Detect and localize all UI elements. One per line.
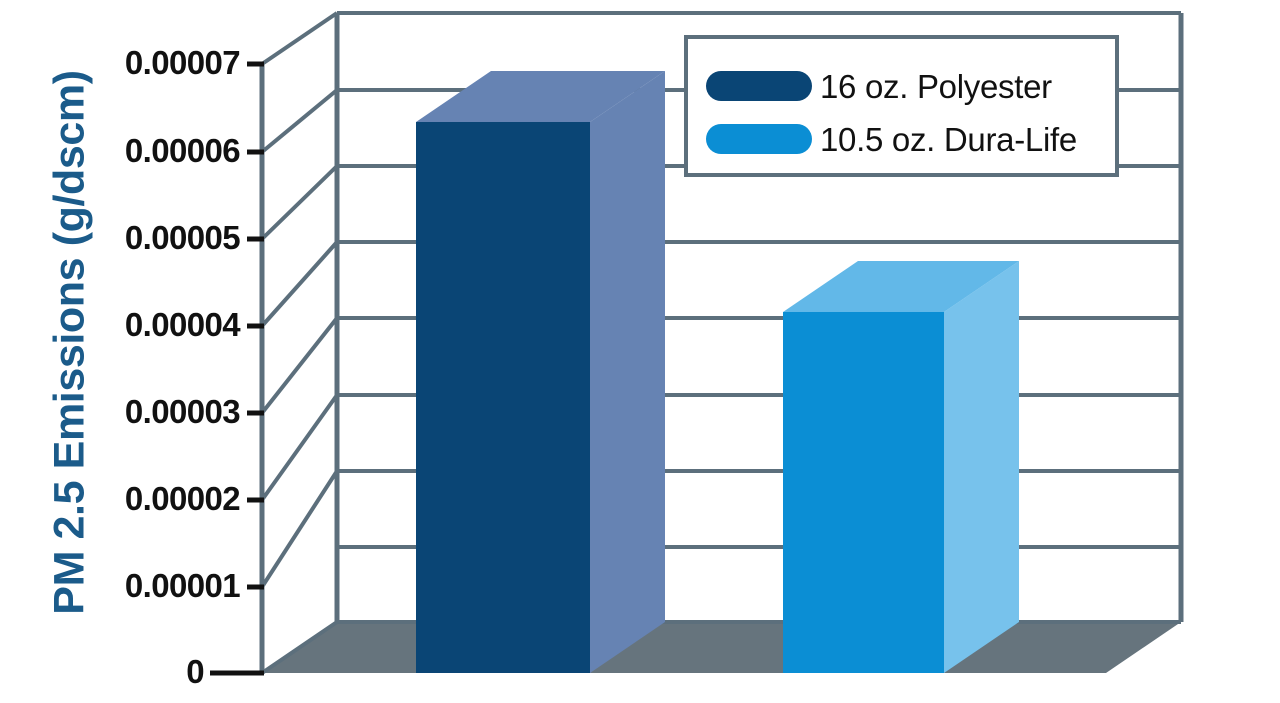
y-tick-label-0.00001: 0.00001 [100,567,240,605]
y-tick-label-0.00004: 0.00004 [100,306,240,344]
legend-swatch-105oz-dura-life [706,124,812,154]
y-tick-label-0.00005: 0.00005 [100,219,240,257]
bar-105oz-dura-life-front [783,312,944,673]
legend-label-105oz-dura-life: 10.5 oz. Dura-Life [820,121,1077,159]
legend-swatch-16oz-polyester [706,71,812,101]
bar-105oz-dura-life[interactable] [783,261,1019,673]
y-tick-label-0.00003: 0.00003 [100,393,240,431]
y-tick-label-0.00007: 0.00007 [100,44,240,82]
bar-16oz-polyester[interactable] [416,71,665,673]
y-tick-label-0.00006: 0.00006 [100,132,240,170]
bar-16oz-polyester-front [416,122,590,673]
chart-container: PM 2.5 Emissions (g/dscm) 0.00007 0.0000… [0,0,1280,703]
bar-105oz-dura-life-side [944,261,1019,673]
bar-16oz-polyester-side [590,71,665,673]
left-side-wall [262,13,337,673]
floor-plane [262,622,1181,673]
legend-label-16oz-polyester: 16 oz. Polyester [820,68,1052,106]
y-tick-label-0.00002: 0.00002 [100,480,240,518]
y-tick-label-0: 0 [100,653,204,691]
